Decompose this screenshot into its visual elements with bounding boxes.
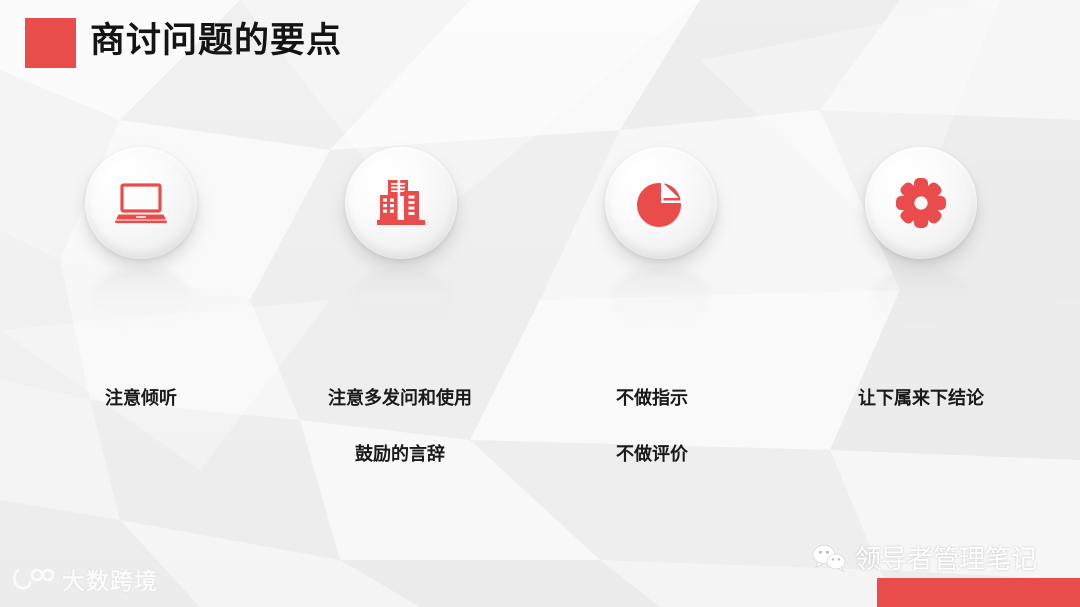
icon-circle-1[interactable] [85,147,197,259]
dashujingjing-logo-icon [12,566,54,592]
icon-circle-row [0,0,1080,607]
gear-icon [865,147,977,259]
buildings-icon [345,147,457,259]
caption-line: 让下属来下结论 [841,370,1001,426]
pie-chart-icon [605,147,717,259]
item-caption-2: 注意多发问和使用 鼓励的言辞 [309,370,491,482]
wechat-icon [812,544,846,572]
corner-red-block [877,578,1080,607]
caption-line: 注意多发问和使用 [309,370,491,426]
caption-line: 鼓励的言辞 [309,426,491,482]
watermark-left-label: 大数跨境 [62,562,158,596]
watermark-bottom-right: 领导者管理笔记 [812,539,1037,576]
slide-canvas: 商讨问题的要点 [0,0,1080,607]
item-caption-1: 注意倾听 [61,370,221,426]
laptop-icon [85,147,197,259]
circle-reflection [91,267,191,329]
caption-line: 不做指示 [616,370,816,426]
icon-circle-2[interactable] [345,147,457,259]
caption-line: 注意倾听 [61,370,221,426]
circle-reflection [611,267,711,329]
watermark-right-label: 领导者管理笔记 [855,539,1037,576]
caption-line: 不做评价 [616,426,816,482]
item-caption-3: 不做指示 不做评价 [616,370,816,482]
circle-reflection [351,267,451,329]
icon-circle-4[interactable] [865,147,977,259]
icon-circle-3[interactable] [605,147,717,259]
circle-reflection [871,267,971,329]
watermark-bottom-left: 大数跨境 [12,562,158,596]
item-caption-4: 让下属来下结论 [841,370,1001,426]
